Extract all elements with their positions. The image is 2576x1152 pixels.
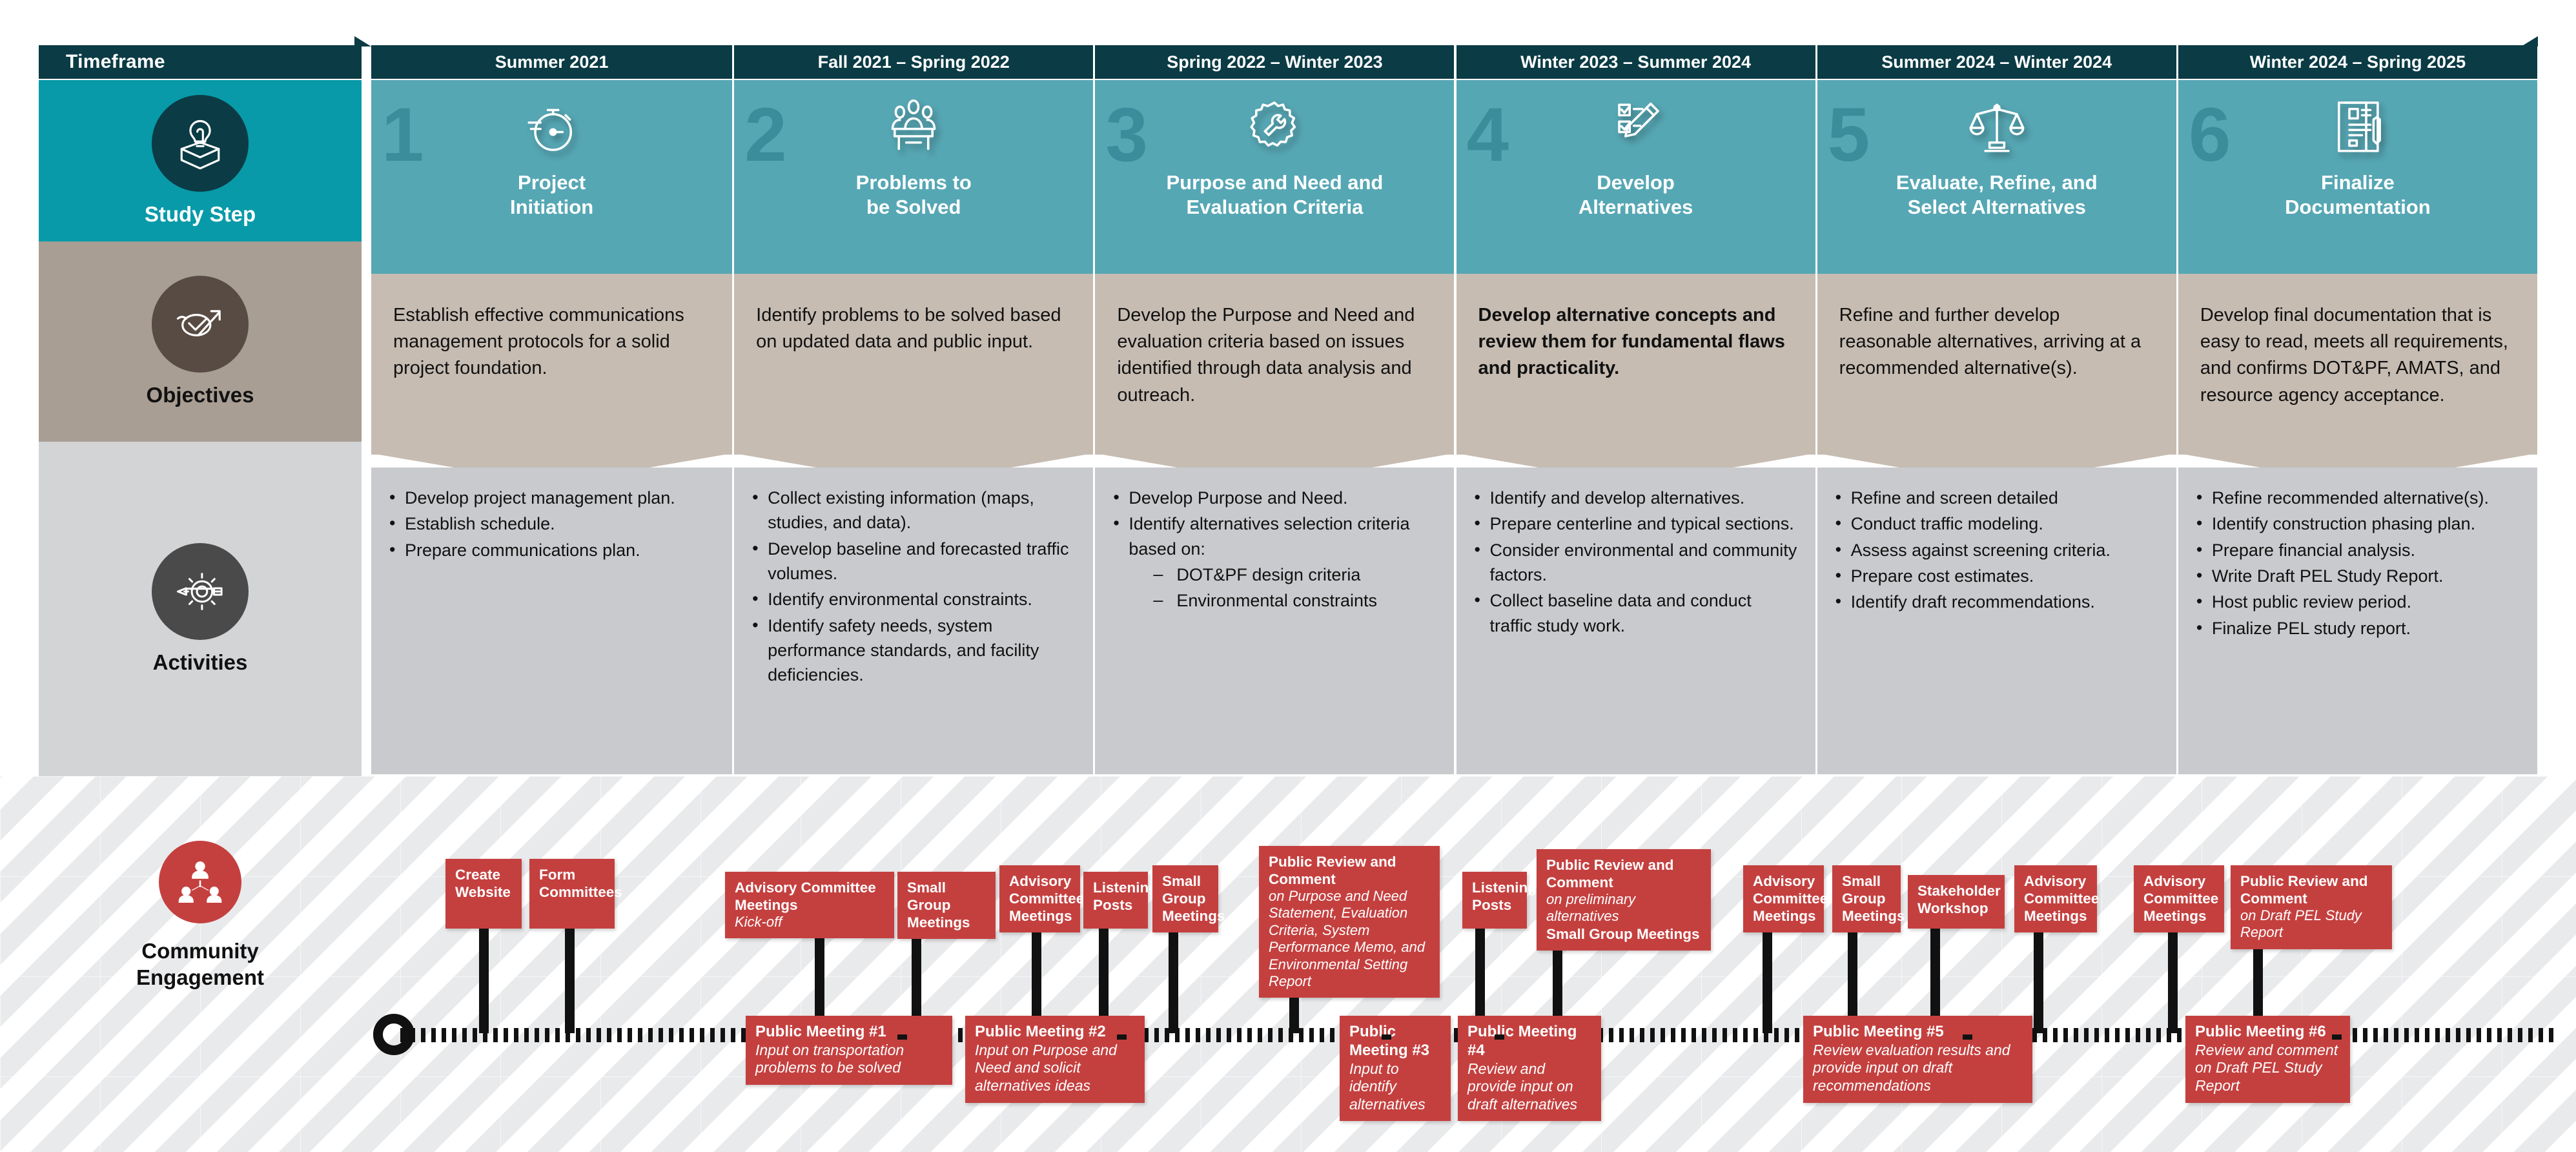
objective-text-4: Develop alternative concepts and review …	[1457, 274, 1815, 382]
event-title: Advisory Committee Meetings	[735, 879, 886, 914]
activities-list-3: Develop Purpose and Need.Identify altern…	[1095, 468, 1454, 613]
objective-card-4: Develop alternative concepts and review …	[1455, 274, 1815, 455]
objective-text-3: Develop the Purpose and Need and evaluat…	[1095, 274, 1454, 409]
community-engagement-label-text: Community Engagement	[136, 938, 264, 991]
engagement-event-box[interactable]: Public Meeting #2Input on Purpose and Ne…	[965, 1016, 1145, 1103]
activity-item: Conduct traffic modeling.	[1832, 511, 2160, 536]
event-title: Advisory Committee Meetings	[2024, 872, 2089, 925]
timeframe-header-5: Summer 2024 – Winter 2024	[1815, 45, 2176, 79]
activity-item: Develop Purpose and Need.	[1109, 486, 1437, 510]
event-subtitle-2: Small Group Meetings	[1546, 925, 1702, 943]
event-subtitle: on preliminary alternatives	[1546, 891, 1702, 925]
event-subtitle: on Purpose and Need Statement, Evaluatio…	[1269, 888, 1431, 990]
engagement-event-box[interactable]: Public Review and Commenton Draft PEL St…	[2231, 865, 2392, 949]
engagement-event-box[interactable]: Listening Posts	[1083, 872, 1148, 929]
ce-label-line2: Engagement	[136, 964, 264, 991]
timeframe-header-2: Fall 2021 – Spring 2022	[732, 45, 1093, 79]
infographic-root: Timeframe Summer 2021Fall 2021 – Spring …	[0, 0, 2576, 1152]
event-stem	[565, 929, 575, 1033]
event-title: Create Website	[455, 866, 513, 901]
activity-subitem: DOT&PF design criteria	[1150, 562, 1437, 587]
engagement-event-box[interactable]: Public Meeting #4Review and provide inpu…	[1458, 1016, 1601, 1121]
event-title: Small Group Meetings	[1842, 872, 1892, 925]
row-label-objectives-text: Objectives	[147, 383, 254, 407]
event-stem	[1117, 1034, 1127, 1040]
activity-item: Identify environmental constraints.	[748, 587, 1076, 612]
engagement-event-box[interactable]: Advisory Committee Meetings	[1743, 865, 1824, 932]
activity-item: Consider environmental and community fac…	[1471, 538, 1799, 588]
activities-card-4: Identify and develop alternatives.Prepar…	[1455, 468, 1815, 774]
gear-wrench-icon	[1241, 92, 1308, 164]
study-step-card-5: 5 Evaluate, Refine, andSelect Alternativ…	[1815, 80, 2176, 274]
activity-item: Identify draft recommendations.	[1832, 590, 2160, 614]
step-title-2: Problems tobe Solved	[839, 170, 988, 220]
event-title: Advisory Committee Meetings	[1009, 872, 1072, 925]
engagement-event-box[interactable]: Advisory Committee MeetingsKick-off	[725, 872, 894, 938]
step-title-4: DevelopAlternatives	[1562, 170, 1710, 220]
step-title-1: ProjectInitiation	[493, 170, 610, 220]
engagement-event-box[interactable]: Listening Posts	[1462, 872, 1527, 929]
event-subtitle: Input on Purpose and Need and solicit al…	[975, 1042, 1136, 1095]
engagement-event-box[interactable]: Public Review and Commenton Purpose and …	[1259, 846, 1440, 998]
engagement-event-box[interactable]: Stakeholder Workshop	[1908, 875, 2005, 929]
event-subtitle: Kick-off	[735, 914, 886, 931]
engagement-event-box[interactable]: Form Committees	[529, 859, 615, 929]
event-stem	[479, 929, 489, 1033]
event-stem	[1289, 998, 1299, 1033]
event-title: Public Meeting #2	[975, 1023, 1136, 1042]
balance-scales-icon	[1963, 92, 2030, 164]
checklist-pencil-icon	[1602, 92, 1670, 164]
engagement-event-box[interactable]: Public Meeting #3Input to identify alter…	[1340, 1016, 1451, 1121]
event-title: Public Meeting #3	[1349, 1023, 1442, 1060]
activity-item: Identify construction phasing plan.	[2193, 511, 2520, 536]
engagement-event-box[interactable]: Public Review and Commenton preliminary …	[1537, 849, 1711, 951]
engagement-event-box[interactable]: Small Group Meetings	[1152, 865, 1218, 932]
row-label-activities-text: Activities	[153, 650, 248, 675]
event-subtitle: Review evaluation results and provide in…	[1813, 1042, 2024, 1095]
activity-item: Identify and develop alternatives.	[1471, 486, 1799, 510]
event-title: Public Review and Comment	[1546, 856, 1702, 891]
activity-item: Prepare communications plan.	[385, 538, 715, 562]
activities-list-4: Identify and develop alternatives.Prepar…	[1457, 468, 1815, 638]
row-label-objectives: Objectives	[39, 242, 362, 442]
objective-text-2: Identify problems to be solved based on …	[734, 274, 1093, 355]
event-title: Public Meeting #1	[755, 1023, 944, 1042]
event-subtitle: Input to identify alternatives	[1349, 1060, 1442, 1114]
objective-card-5: Refine and further develop reasonable al…	[1815, 274, 2176, 455]
activity-item: Refine and screen detailed	[1832, 486, 2160, 510]
activities-card-6: Refine recommended alternative(s).Identi…	[2176, 468, 2537, 774]
community-engagement-section: Community Engagement Create WebsiteForm …	[0, 776, 2576, 1152]
study-step-card-4: 4 DevelopAlternatives	[1455, 80, 1815, 274]
event-title: Public Meeting #6	[2195, 1023, 2342, 1042]
lightbulb-in-box-icon	[152, 95, 249, 192]
engagement-event-box[interactable]: Create Website	[445, 859, 522, 929]
community-engagement-label: Community Engagement	[39, 841, 362, 991]
objective-card-2: Identify problems to be solved based on …	[732, 274, 1093, 455]
event-title: Small Group Meetings	[1162, 872, 1210, 925]
activity-item: Identify alternatives selection criteria…	[1109, 511, 1437, 613]
event-stem	[2168, 932, 2178, 1033]
activities-card-3: Develop Purpose and Need.Identify altern…	[1093, 468, 1454, 774]
engagement-event-box[interactable]: Advisory Committee Meetings	[999, 865, 1080, 932]
event-title: Listening Posts	[1472, 879, 1518, 914]
objective-text-6: Develop final documentation that is easy…	[2178, 274, 2537, 409]
objective-card-1: Establish effective communications manag…	[371, 274, 732, 455]
study-step-card-6: 6 FinalizeDocumentation	[2176, 80, 2537, 274]
event-title: Advisory Committee Meetings	[2143, 872, 2216, 925]
document-pencil-icon	[2324, 92, 2391, 164]
event-title: Form Committees	[539, 866, 606, 901]
activity-item: Identify safety needs, system performanc…	[748, 613, 1076, 688]
activity-item: Host public review period.	[2193, 590, 2520, 614]
activity-item: Prepare cost estimates.	[1832, 564, 2160, 588]
engagement-event-box[interactable]: Small Group Meetings	[1832, 865, 1901, 932]
activity-item: Develop baseline and forecasted traffic …	[748, 537, 1076, 586]
objective-card-3: Develop the Purpose and Need and evaluat…	[1093, 274, 1454, 455]
study-step-card-3: 3 Purpose and Need andEvaluation Criteri…	[1093, 80, 1454, 274]
study-step-card-2: 2 Problems tobe Solved	[732, 80, 1093, 274]
target-arrow-check-icon	[152, 276, 249, 373]
activities-list-1: Develop project management plan.Establis…	[371, 468, 732, 562]
event-stem	[1963, 1034, 1972, 1040]
event-title: Listening Posts	[1093, 879, 1140, 914]
timeframe-label: Timeframe	[39, 45, 362, 79]
objective-text-5: Refine and further develop reasonable al…	[1817, 274, 2176, 382]
activities-card-1: Develop project management plan.Establis…	[371, 468, 732, 774]
event-title: Small Group Meetings	[907, 879, 987, 931]
activity-item: Prepare financial analysis.	[2193, 538, 2520, 562]
ce-label-line1: Community	[136, 938, 264, 964]
step-title-5: Evaluate, Refine, andSelect Alternatives	[1879, 170, 2114, 220]
event-stem	[2332, 1034, 2342, 1040]
people-at-table-icon	[880, 92, 947, 164]
people-network-icon	[159, 841, 241, 923]
event-stem	[1169, 932, 1178, 1033]
engagement-event-box[interactable]: Public Meeting #1Input on transportation…	[746, 1016, 952, 1085]
event-subtitle: Review and provide input on draft altern…	[1467, 1060, 1593, 1114]
engagement-event-box[interactable]: Advisory Committee Meetings	[2014, 865, 2097, 932]
row-label-activities: Activities	[39, 442, 362, 776]
stopwatch-icon	[518, 92, 586, 164]
event-subtitle: on Draft PEL Study Report	[2240, 907, 2384, 941]
engagement-event-box[interactable]: Advisory Committee Meetings	[2134, 865, 2224, 932]
step-title-3: Purpose and Need andEvaluation Criteria	[1149, 170, 1400, 220]
objective-text-1: Establish effective communications manag…	[371, 274, 732, 382]
activities-list-6: Refine recommended alternative(s).Identi…	[2178, 468, 2537, 641]
timeframe-header-6: Winter 2024 – Spring 2025	[2176, 45, 2537, 79]
activity-item: Write Draft PEL Study Report.	[2193, 564, 2520, 588]
activity-item: Collect baseline data and conduct traffi…	[1471, 588, 1799, 638]
event-subtitle: Input on transportation problems to be s…	[755, 1042, 944, 1077]
activity-item: Collect existing information (maps, stud…	[748, 486, 1076, 535]
activity-item: Prepare centerline and typical sections.	[1471, 511, 1799, 536]
step-title-6: FinalizeDocumentation	[2268, 170, 2448, 220]
engagement-event-box[interactable]: Public Meeting #5Review evaluation resul…	[1803, 1016, 2032, 1103]
activities-list-2: Collect existing information (maps, stud…	[734, 468, 1093, 688]
activity-item: Refine recommended alternative(s).	[2193, 486, 2520, 510]
engagement-event-box[interactable]: Small Group Meetings	[897, 872, 996, 939]
event-title: Stakeholder Workshop	[1917, 882, 1996, 917]
row-label-study-step-text: Study Step	[145, 202, 256, 227]
header-notch-left	[354, 36, 371, 46]
event-stem	[897, 1034, 907, 1040]
activity-subitem: Environmental constraints	[1150, 588, 1437, 613]
activities-card-2: Collect existing information (maps, stud…	[732, 468, 1093, 774]
objective-card-6: Develop final documentation that is easy…	[2176, 274, 2537, 455]
event-subtitle: Review and comment on Draft PEL Study Re…	[2195, 1042, 2342, 1095]
event-stem	[1495, 1034, 1504, 1040]
event-stem	[2034, 932, 2043, 1033]
event-title: Public Review and Comment	[2240, 872, 2384, 907]
engagement-event-box[interactable]: Public Meeting #6Review and comment on D…	[2185, 1016, 2350, 1103]
activities-list-5: Refine and screen detailedConduct traffi…	[1817, 468, 2176, 615]
gear-pencil-icon	[152, 543, 249, 640]
activity-item: Assess against screening criteria.	[1832, 538, 2160, 562]
activity-item: Develop project management plan.	[385, 486, 715, 510]
event-title: Public Meeting #5	[1813, 1023, 2024, 1042]
activities-card-5: Refine and screen detailedConduct traffi…	[1815, 468, 2176, 774]
event-title: Public Review and Comment	[1269, 853, 1431, 888]
study-step-card-1: 1 ProjectInitiation	[371, 80, 732, 274]
event-stem	[1763, 932, 1772, 1033]
row-label-study-step: Study Step	[39, 80, 362, 242]
event-stem	[1382, 1034, 1391, 1040]
activity-item: Finalize PEL study report.	[2193, 616, 2520, 641]
timeframe-header-3: Spring 2022 – Winter 2023	[1093, 45, 1454, 79]
event-title: Public Meeting #4	[1467, 1023, 1593, 1060]
timeframe-header-1: Summer 2021	[371, 45, 732, 79]
timeframe-header-4: Winter 2023 – Summer 2024	[1455, 45, 1815, 79]
event-title: Advisory Committee Meetings	[1753, 872, 1815, 925]
activity-item: Establish schedule.	[385, 511, 715, 536]
